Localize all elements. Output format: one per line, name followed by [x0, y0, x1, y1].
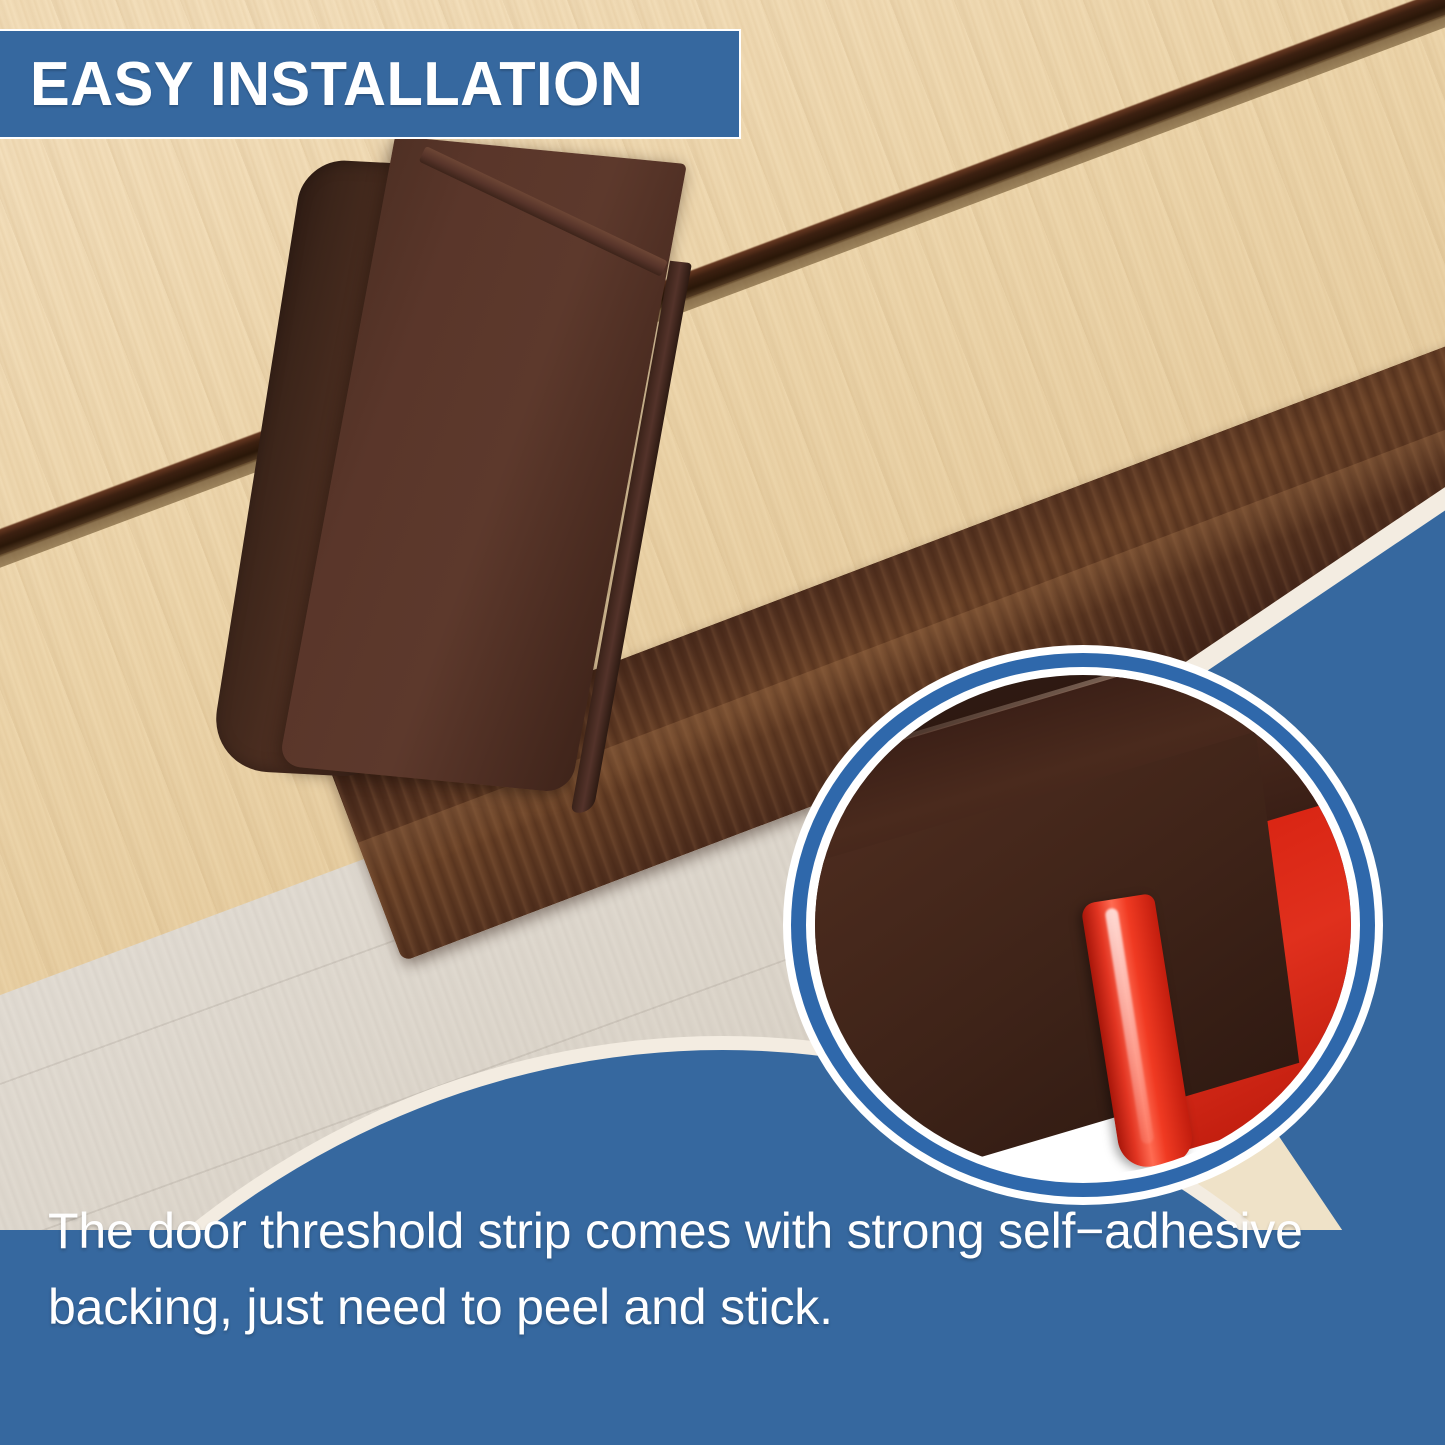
adhesive-closeup-inset	[783, 645, 1383, 1205]
inset-photo-content	[815, 675, 1351, 1175]
caption-line-2: backing, just need to peel and stick.	[48, 1269, 1388, 1345]
product-marketing-image: EASY INSTALLATION The door threshold str…	[0, 0, 1445, 1445]
header-banner: EASY INSTALLATION	[0, 29, 741, 139]
page-title: EASY INSTALLATION	[30, 49, 643, 120]
caption-text: The door threshold strip comes with stro…	[48, 1193, 1388, 1345]
lifted-threshold-strip-end	[300, 150, 760, 840]
